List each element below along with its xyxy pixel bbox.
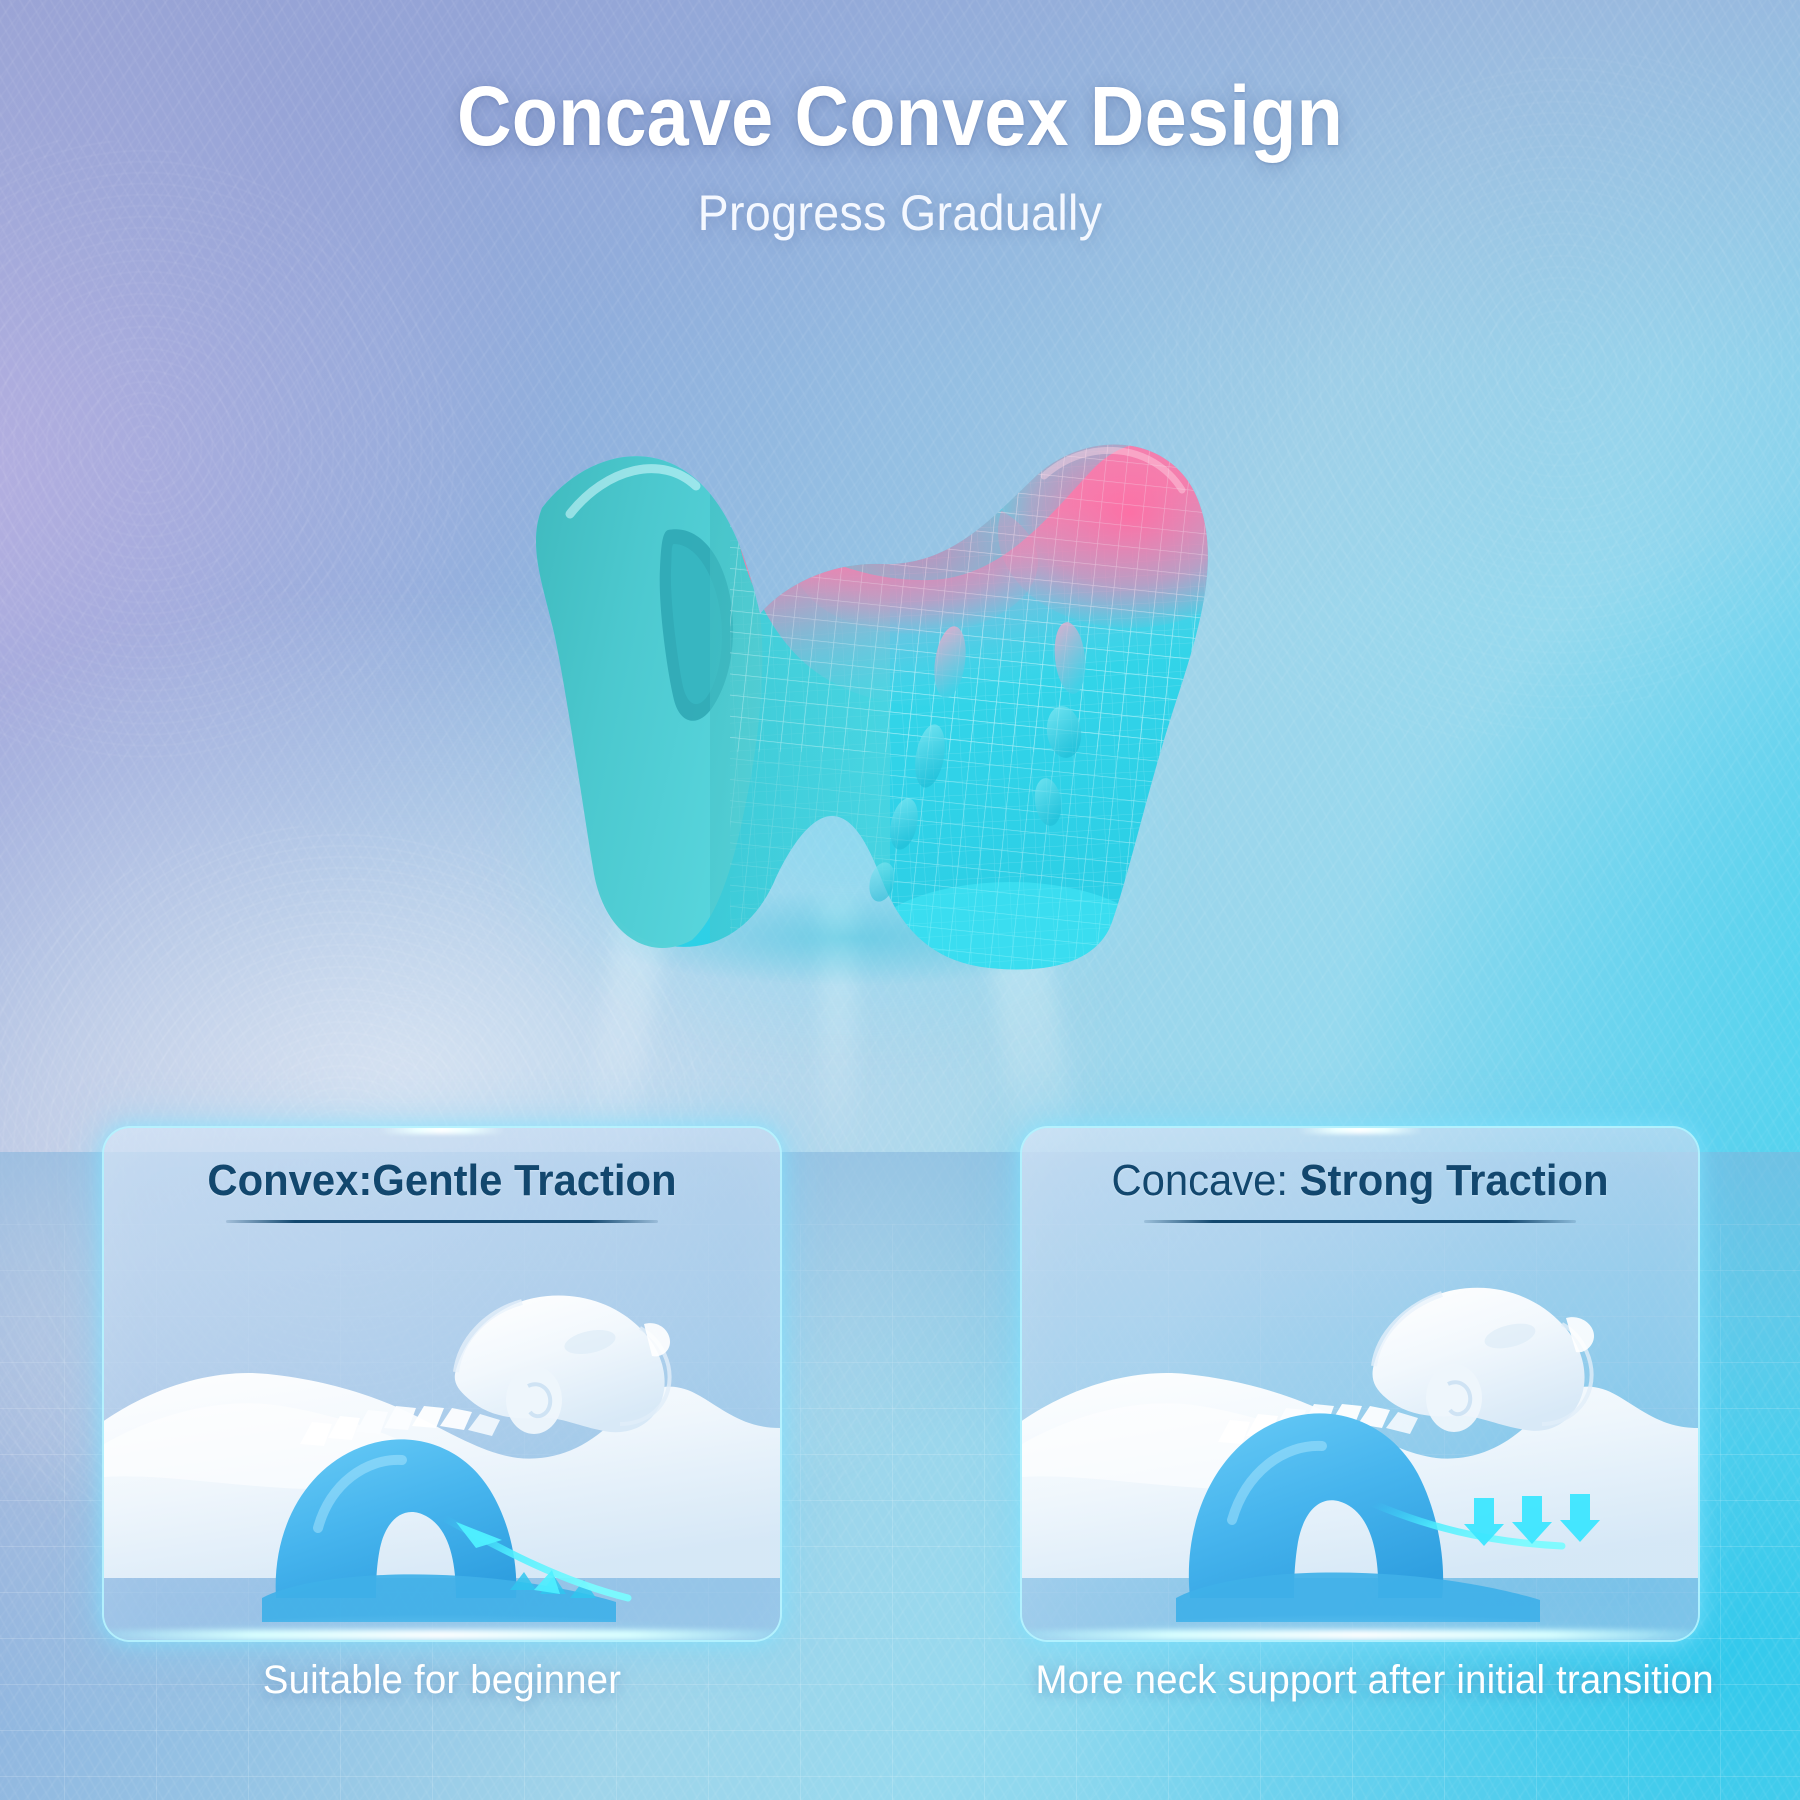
card-convex-title-lead: Convex:: [207, 1156, 372, 1205]
promo-image-canvas: Concave Convex Design Progress Gradually: [0, 0, 1800, 1800]
ear-icon: [1426, 1364, 1482, 1432]
product-hero-image: [430, 262, 1250, 962]
card-concave[interactable]: Concave: Strong Traction: [1022, 1128, 1698, 1640]
product-3d-render: [430, 262, 1250, 962]
page-title: Concave Convex Design: [90, 74, 1710, 158]
card-concave-rule: [1144, 1220, 1576, 1223]
ear-icon: [506, 1366, 562, 1434]
page-subtitle: Progress Gradually: [63, 184, 1737, 242]
card-concave-title-accent: Strong Traction: [1300, 1156, 1609, 1205]
caption-convex: Suitable for beginner: [118, 1658, 767, 1703]
card-bottom-glow: [1022, 1630, 1698, 1640]
caption-concave: More neck support after initial transiti…: [1036, 1658, 1685, 1703]
card-concave-title: Concave: Strong Traction: [1081, 1158, 1640, 1204]
card-convex[interactable]: Convex:Gentle Traction: [104, 1128, 780, 1640]
card-concave-header: Concave: Strong Traction: [1022, 1128, 1698, 1223]
card-convex-title-accent: Gentle Traction: [372, 1156, 676, 1205]
card-top-notch: [379, 1128, 505, 1134]
card-convex-rule: [226, 1220, 658, 1223]
card-bottom-glow: [104, 1630, 780, 1640]
heading-block: Concave Convex Design Progress Gradually: [0, 74, 1800, 242]
card-convex-title: Convex:Gentle Traction: [163, 1158, 722, 1204]
comparison-cards: Convex:Gentle Traction: [0, 1128, 1800, 1648]
card-convex-header: Convex:Gentle Traction: [104, 1128, 780, 1223]
card-concave-title-lead: Concave:: [1111, 1156, 1299, 1205]
card-top-notch: [1297, 1128, 1423, 1134]
